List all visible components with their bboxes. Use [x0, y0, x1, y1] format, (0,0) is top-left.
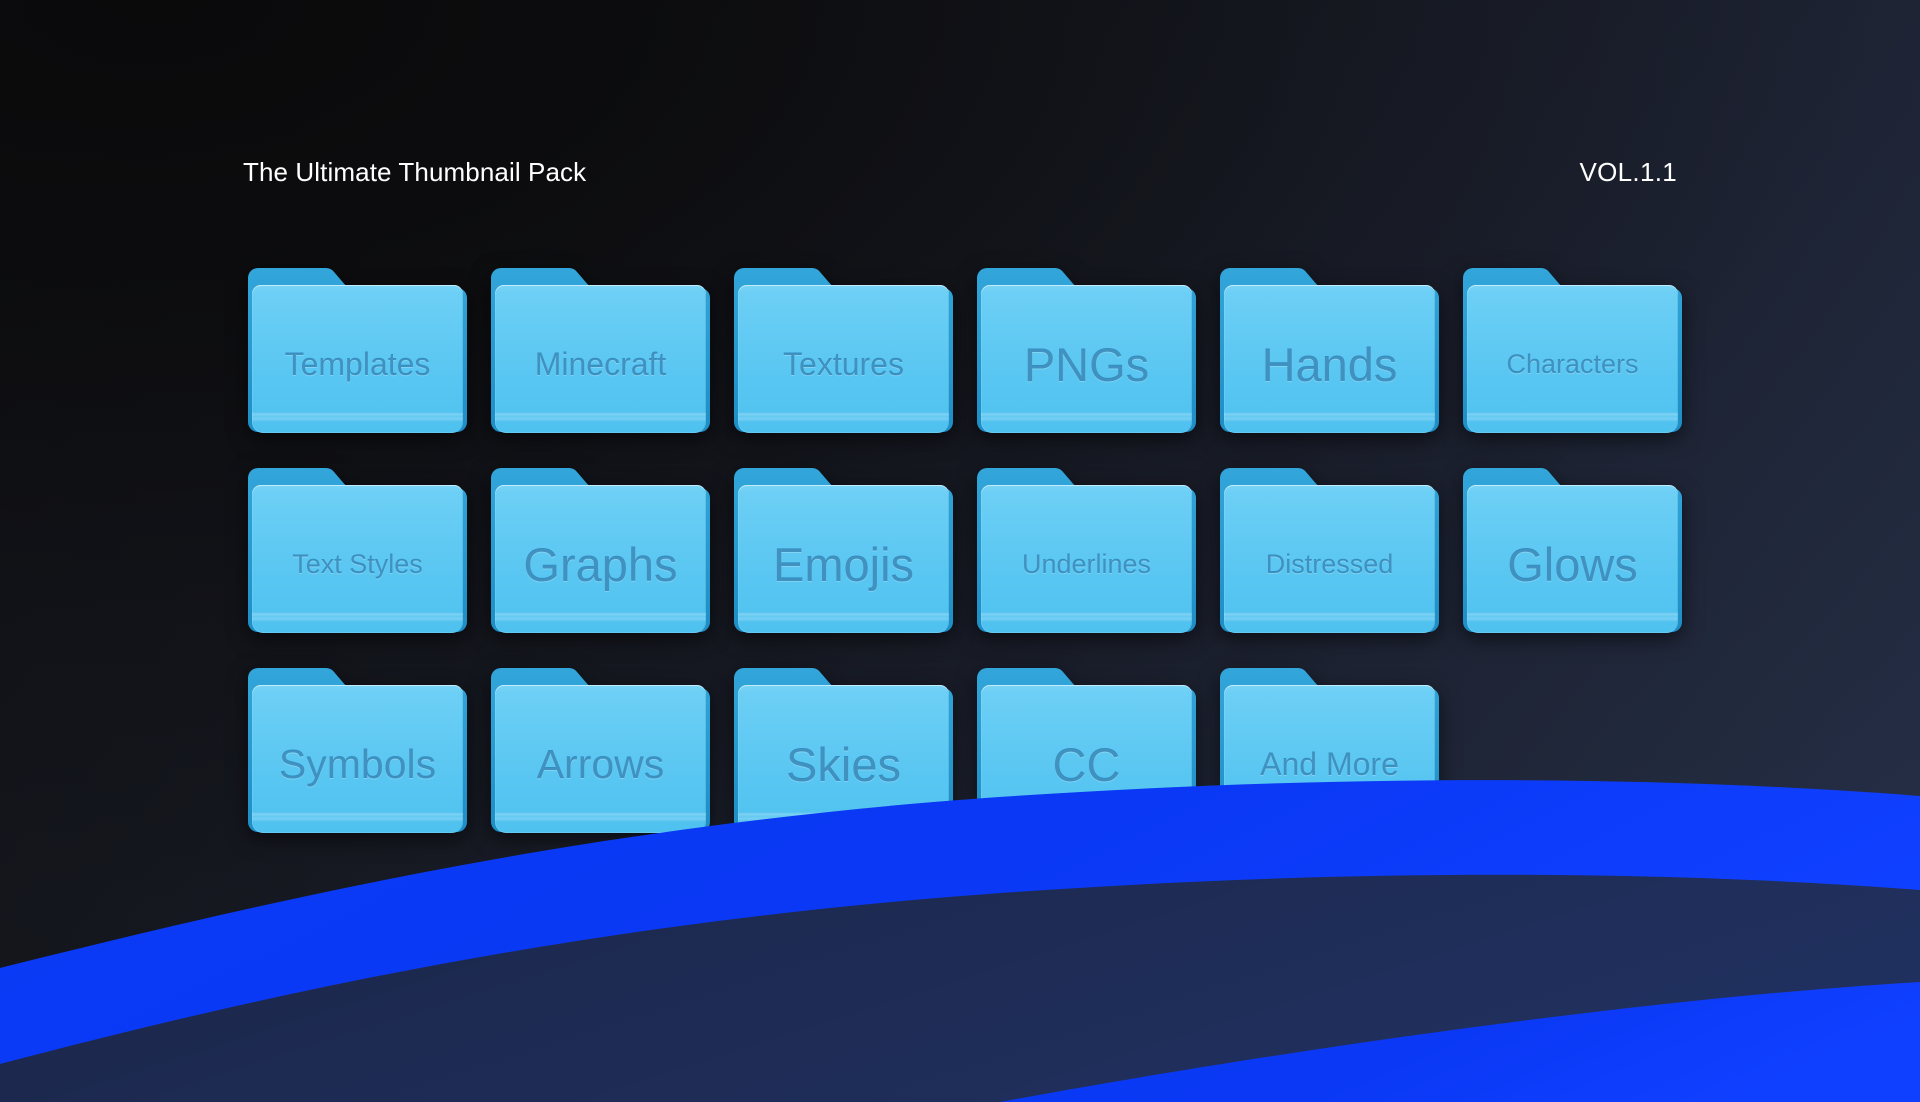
folder-front-panel: Hands: [1224, 285, 1435, 433]
folder-item[interactable]: Templates: [248, 258, 467, 433]
folder-item[interactable]: Textures: [734, 258, 953, 433]
folder-label: Textures: [783, 348, 904, 380]
folder-label: Hands: [1262, 341, 1398, 388]
header: The Ultimate Thumbnail Pack VOL.1.1: [243, 157, 1677, 188]
folder-label: Templates: [285, 348, 431, 380]
folder-label: PNGs: [1024, 341, 1149, 388]
page-title: The Ultimate Thumbnail Pack: [243, 157, 586, 188]
wave-shapes: [0, 682, 1920, 1102]
version-badge: VOL.1.1: [1580, 157, 1678, 188]
folder-label: Graphs: [523, 541, 677, 588]
folder-item[interactable]: PNGs: [977, 258, 1196, 433]
folder-item[interactable]: Distressed: [1220, 458, 1439, 633]
wave-decoration: [0, 682, 1920, 1102]
folder-label: Text Styles: [292, 551, 423, 578]
folder-front-panel: Textures: [738, 285, 949, 433]
folder-label: Distressed: [1266, 551, 1394, 578]
folder-item[interactable]: Characters: [1463, 258, 1682, 433]
folder-item[interactable]: Underlines: [977, 458, 1196, 633]
folder-front-panel: Text Styles: [252, 485, 463, 633]
folder-front-panel: PNGs: [981, 285, 1192, 433]
folder-front-panel: Emojis: [738, 485, 949, 633]
folder-item[interactable]: Graphs: [491, 458, 710, 633]
folder-front-panel: Underlines: [981, 485, 1192, 633]
folder-item[interactable]: Hands: [1220, 258, 1439, 433]
folder-label: Characters: [1506, 351, 1638, 378]
folder-label: Minecraft: [535, 348, 667, 380]
folder-label: Glows: [1507, 541, 1638, 588]
folder-front-panel: Graphs: [495, 485, 706, 633]
folder-front-panel: Glows: [1467, 485, 1678, 633]
folder-item[interactable]: Glows: [1463, 458, 1682, 633]
folder-item[interactable]: Text Styles: [248, 458, 467, 633]
folder-item[interactable]: Emojis: [734, 458, 953, 633]
folder-front-panel: Templates: [252, 285, 463, 433]
folder-front-panel: Characters: [1467, 285, 1678, 433]
folder-label: Underlines: [1022, 551, 1151, 578]
folder-item[interactable]: Minecraft: [491, 258, 710, 433]
folder-label: Emojis: [773, 541, 914, 588]
thumbnail-pack-canvas: The Ultimate Thumbnail Pack VOL.1.1 Temp…: [0, 0, 1920, 1102]
folder-front-panel: Minecraft: [495, 285, 706, 433]
folder-front-panel: Distressed: [1224, 485, 1435, 633]
